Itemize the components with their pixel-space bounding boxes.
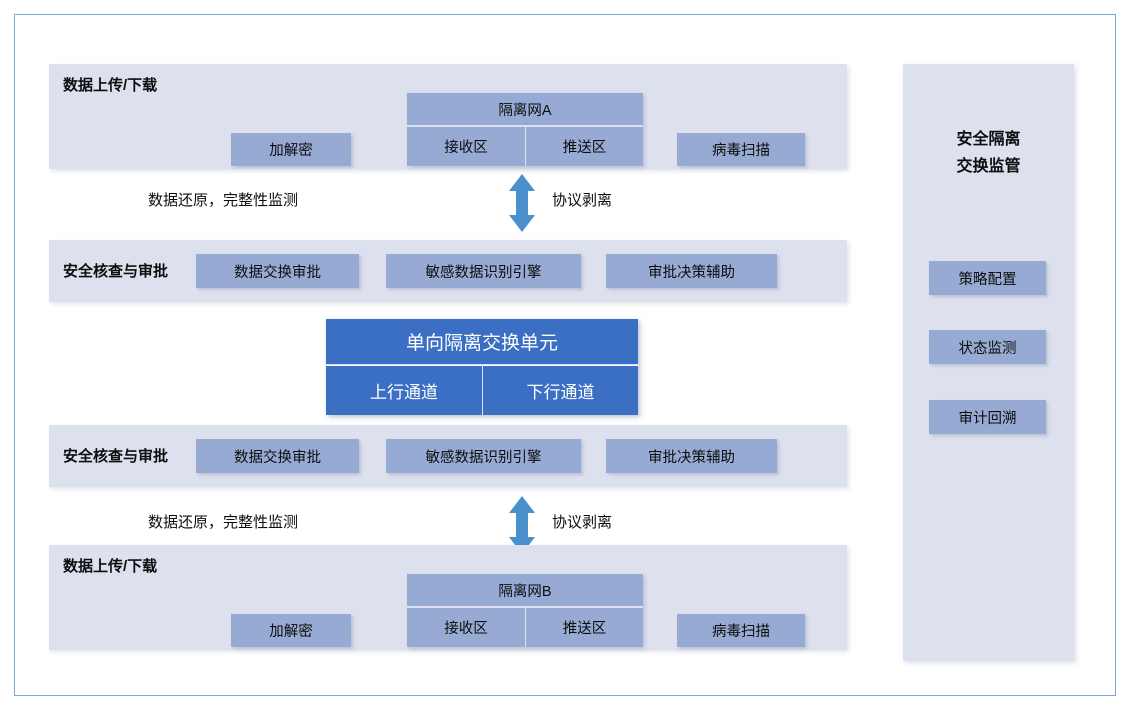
isolation-net-a: 隔离网A 接收区 推送区 [407,93,643,166]
supervision-panel: 安全隔离 交换监管 策略配置 状态监测 审计回溯 [903,64,1074,661]
section-bottom-data-transfer-label: 数据上传/下载 [63,559,157,574]
connector-top: 数据还原，完整性监测 协议剥离 [63,171,861,235]
chip-encryption-bottom[interactable]: 加解密 [231,614,351,647]
chip-status-monitoring[interactable]: 状态监测 [929,330,1046,364]
isolation-net-b-receive-zone[interactable]: 接收区 [407,608,525,647]
chip-upper-approval-decision-support[interactable]: 审批决策辅助 [606,254,777,288]
isolation-net-b: 隔离网B 接收区 推送区 [407,574,643,647]
double-arrow-vertical-icon [507,173,537,233]
chip-virus-scan-bottom[interactable]: 病毒扫描 [677,614,805,647]
isolation-net-a-receive-zone[interactable]: 接收区 [407,127,525,166]
chip-audit-traceback[interactable]: 审计回溯 [929,400,1046,434]
supervision-panel-title: 安全隔离 交换监管 [903,126,1074,180]
exchange-unit-title: 单向隔离交换单元 [326,319,638,365]
connector-bottom-caption-right: 协议剥离 [552,511,612,532]
connector-top-caption-left: 数据还原，完整性监测 [148,189,298,210]
chip-virus-scan-top[interactable]: 病毒扫描 [677,133,805,166]
chip-policy-configuration[interactable]: 策略配置 [929,261,1046,295]
isolation-net-b-title: 隔离网B [407,574,643,607]
chip-lower-sensitive-data-engine[interactable]: 敏感数据识别引擎 [386,439,581,473]
exchange-unit-uplink-channel[interactable]: 上行通道 [326,366,482,415]
diagram-frame: 数据上传/下载 加解密 隔离网A 接收区 推送区 病毒扫描 数据还原，完整性监测… [14,14,1116,696]
section-lower-review-label: 安全核查与审批 [63,449,168,464]
exchange-unit-downlink-channel[interactable]: 下行通道 [482,366,638,415]
section-upper-review-label: 安全核查与审批 [63,264,168,279]
isolation-net-b-push-zone[interactable]: 推送区 [525,608,643,647]
isolation-net-a-cells: 接收区 推送区 [407,127,643,166]
chip-upper-sensitive-data-engine[interactable]: 敏感数据识别引擎 [386,254,581,288]
chip-encryption-top[interactable]: 加解密 [231,133,351,166]
one-way-isolation-exchange-unit: 单向隔离交换单元 上行通道 下行通道 [326,319,638,415]
chip-lower-approval-decision-support[interactable]: 审批决策辅助 [606,439,777,473]
connector-top-caption-right: 协议剥离 [552,189,612,210]
exchange-unit-cells: 上行通道 下行通道 [326,366,638,415]
supervision-panel-title-line1: 安全隔离 [903,126,1074,153]
chip-upper-data-exchange-approval[interactable]: 数据交换审批 [196,254,359,288]
section-top-data-transfer-label: 数据上传/下载 [63,78,157,93]
chip-lower-data-exchange-approval[interactable]: 数据交换审批 [196,439,359,473]
connector-bottom-caption-left: 数据还原，完整性监测 [148,511,298,532]
supervision-panel-title-line2: 交换监管 [903,153,1074,180]
isolation-net-a-title: 隔离网A [407,93,643,126]
isolation-net-b-cells: 接收区 推送区 [407,608,643,647]
isolation-net-a-push-zone[interactable]: 推送区 [525,127,643,166]
